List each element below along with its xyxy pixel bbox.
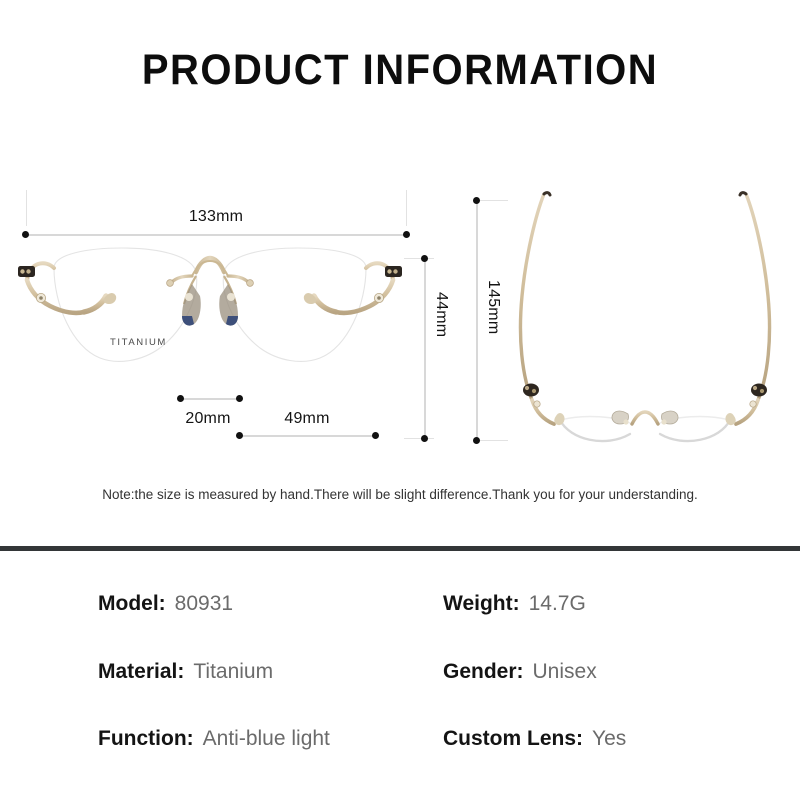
size-note: Note:the size is measured by hand.There … [0, 487, 800, 502]
front-view-panel: 133mm [0, 170, 460, 470]
spec-label: Function: [98, 727, 194, 751]
measure-tick-bottom [404, 438, 434, 439]
measure-endpoint-dot [421, 435, 428, 442]
side-view-panel: 145mm [460, 170, 800, 470]
spec-value: Anti-blue light [203, 727, 330, 751]
spec-value: Titanium [193, 660, 273, 684]
glasses-front-image: TITANIUM [10, 242, 410, 382]
measure-endpoint-dot [236, 395, 243, 402]
measure-label-lens-height: 44mm [432, 292, 450, 337]
measure-endpoint-dot [403, 231, 410, 238]
measure-endpoint-dot [421, 255, 428, 262]
measure-endpoint-dot [236, 432, 243, 439]
spec-item-material: Material: Titanium [98, 660, 273, 684]
measure-line [476, 200, 478, 440]
measure-endpoint-dot [473, 197, 480, 204]
spec-label: Custom Lens: [443, 727, 583, 751]
spec-item-model: Model: 80931 [98, 592, 233, 616]
spec-item-weight: Weight: 14.7G [443, 592, 586, 616]
measure-tick-top [404, 258, 434, 259]
spec-value: Unisex [533, 660, 597, 684]
glasses-folded-image [500, 188, 790, 453]
measure-line [181, 398, 239, 400]
spec-row: Material: Titanium Gender: Unisex [0, 660, 800, 694]
measure-label-lens-width: 49mm [242, 410, 372, 428]
measure-line [424, 258, 426, 438]
measure-endpoint-dot [473, 437, 480, 444]
measure-endpoint-dot [372, 432, 379, 439]
spec-label: Gender: [443, 660, 524, 684]
svg-text:TITANIUM: TITANIUM [110, 337, 167, 348]
measure-endpoint-dot [22, 231, 29, 238]
spec-value: 14.7G [529, 592, 586, 616]
page-title: PRODUCT INFORMATION [28, 46, 772, 95]
spec-row: Model: 80931 Weight: 14.7G [0, 592, 800, 626]
spec-item-function: Function: Anti-blue light [98, 727, 330, 751]
section-divider [0, 546, 800, 551]
measure-line [240, 435, 375, 437]
measure-endpoint-dot [177, 395, 184, 402]
specification-table: Model: 80931 Weight: 14.7G Material: Tit… [0, 580, 800, 780]
spec-item-custom-lens: Custom Lens: Yes [443, 727, 626, 751]
spec-label: Weight: [443, 592, 520, 616]
measure-line [26, 234, 407, 236]
spec-value: 80931 [175, 592, 233, 616]
product-diagram: 133mm [0, 170, 800, 470]
spec-label: Material: [98, 660, 184, 684]
spec-row: Function: Anti-blue light Custom Lens: Y… [0, 727, 800, 761]
spec-value: Yes [592, 727, 626, 751]
spec-label: Model: [98, 592, 166, 616]
measure-label-total-width: 133mm [0, 208, 432, 226]
spec-item-gender: Gender: Unisex [443, 660, 597, 684]
